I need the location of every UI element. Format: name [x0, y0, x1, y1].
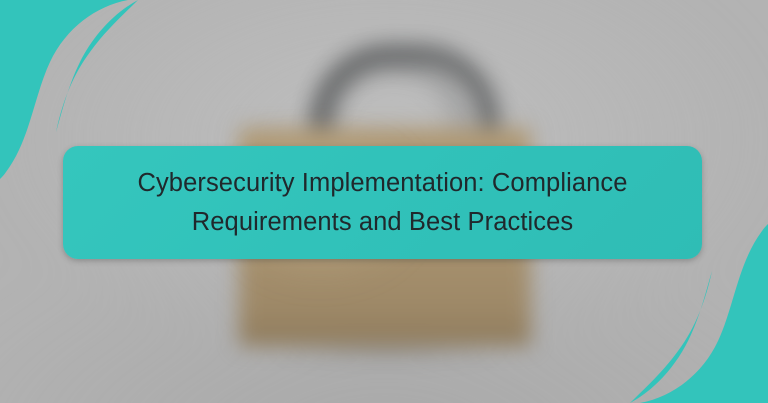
page-title: Cybersecurity Implementation: Compliance… [133, 164, 633, 242]
featured-image-card: Cybersecurity Implementation: Compliance… [0, 0, 768, 403]
title-banner: Cybersecurity Implementation: Compliance… [63, 146, 702, 259]
